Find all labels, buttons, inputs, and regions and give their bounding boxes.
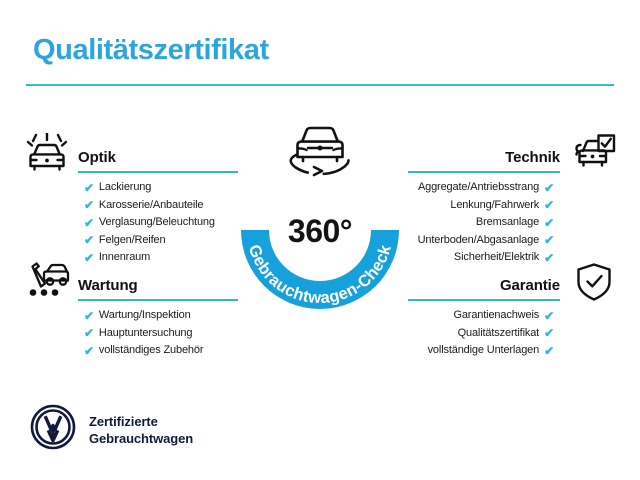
checklist-item-label: Innenraum	[99, 249, 150, 267]
check-icon: ✔	[84, 234, 94, 246]
checklist-item-label: Sicherheit/Elektrik	[454, 249, 539, 267]
section-technik-header: Technik	[408, 143, 560, 173]
footer-brand: Zertifizierte Gebrauchtwagen	[30, 404, 193, 455]
checklist-item-label: Lenkung/Fahrwerk	[450, 197, 539, 215]
checklist-item: ✔Garantienachweis	[408, 307, 554, 325]
section-garantie-header: Garantie	[408, 271, 560, 301]
section-wartung-title: Wartung	[78, 277, 138, 294]
checklist-item-label: Unterboden/Abgasanlage	[418, 232, 539, 250]
checklist-item: ✔Lackierung	[84, 179, 238, 197]
section-optik-title: Optik	[78, 149, 116, 166]
checklist-item: ✔Karosserie/Anbauteile	[84, 197, 238, 215]
section-technik-title: Technik	[505, 149, 560, 166]
footer-line-1: Zertifizierte	[89, 414, 158, 429]
badge-center-label: 360°	[229, 213, 411, 250]
checklist-item-label: Wartung/Inspektion	[99, 307, 191, 325]
checklist-item-label: Garantienachweis	[453, 307, 539, 325]
checklist-item-label: Karosserie/Anbauteile	[99, 197, 203, 215]
section-technik-divider	[408, 171, 560, 173]
checklist-item: ✔vollständiges Zubehör	[84, 342, 238, 360]
check-icon: ✔	[544, 217, 554, 229]
section-optik: Optik ✔Lackierung✔Karosserie/Anbauteile✔…	[78, 143, 238, 267]
section-optik-list: ✔Lackierung✔Karosserie/Anbauteile✔Vergla…	[78, 173, 238, 267]
section-garantie-list: ✔Garantienachweis✔Qualitätszertifikat✔vo…	[408, 301, 560, 360]
checklist-item-label: Verglasung/Beleuchtung	[99, 214, 215, 232]
checklist-item: ✔Bremsanlage	[408, 214, 554, 232]
check-icon: ✔	[84, 182, 94, 194]
footer-line-2: Gebrauchtwagen	[89, 431, 193, 446]
vw-logo	[30, 404, 76, 455]
car-checkbox-icon	[570, 133, 616, 178]
car-wash-icon	[24, 133, 70, 178]
check-icon: ✔	[84, 252, 94, 264]
section-wartung: Wartung ✔Wartung/Inspektion✔Hauptuntersu…	[78, 271, 238, 360]
checklist-item-label: Bremsanlage	[476, 214, 539, 232]
section-wartung-header: Wartung	[78, 271, 238, 301]
360-check-badge: Gebrauchtwagen-Check 360°	[229, 147, 411, 313]
page-title: Qualitätszertifikat	[33, 34, 269, 67]
section-wartung-list: ✔Wartung/Inspektion✔Hauptuntersuchung✔vo…	[78, 301, 238, 360]
checklist-item: ✔vollständige Unterlagen	[408, 342, 554, 360]
section-technik-list: ✔Aggregate/Antriebsstrang✔Lenkung/Fahrwe…	[408, 173, 560, 267]
checklist-item: ✔Qualitätszertifikat	[408, 325, 554, 343]
section-garantie-title: Garantie	[500, 277, 560, 294]
checklist-item-label: Felgen/Reifen	[99, 232, 166, 250]
check-icon: ✔	[84, 310, 94, 322]
check-icon: ✔	[84, 199, 94, 211]
check-icon: ✔	[84, 217, 94, 229]
checklist-item: ✔Verglasung/Beleuchtung	[84, 214, 238, 232]
title-divider	[26, 84, 614, 86]
section-technik: Technik ✔Aggregate/Antriebsstrang✔Lenkun…	[408, 143, 560, 267]
check-icon: ✔	[544, 199, 554, 211]
section-garantie: Garantie ✔Garantienachweis✔Qualitätszert…	[408, 271, 560, 360]
check-icon: ✔	[544, 327, 554, 339]
wrench-car-icon	[24, 261, 70, 306]
checklist-item: ✔Wartung/Inspektion	[84, 307, 238, 325]
checklist-item-label: Qualitätszertifikat	[458, 325, 540, 343]
checklist-item: ✔Unterboden/Abgasanlage	[408, 232, 554, 250]
check-icon: ✔	[544, 234, 554, 246]
check-icon: ✔	[544, 252, 554, 264]
checklist-item-label: Aggregate/Antriebsstrang	[418, 179, 539, 197]
checklist-item: ✔Sicherheit/Elektrik	[408, 249, 554, 267]
check-icon: ✔	[544, 310, 554, 322]
checklist-item-label: vollständige Unterlagen	[428, 342, 540, 360]
section-optik-header: Optik	[78, 143, 238, 173]
shield-check-icon	[574, 262, 614, 307]
checklist-item: ✔Felgen/Reifen	[84, 232, 238, 250]
checklist-item: ✔Aggregate/Antriebsstrang	[408, 179, 554, 197]
checklist-item: ✔Lenkung/Fahrwerk	[408, 197, 554, 215]
checklist-item-label: Lackierung	[99, 179, 151, 197]
checklist-item: ✔Hauptuntersuchung	[84, 325, 238, 343]
checklist-item-label: vollständiges Zubehör	[99, 342, 203, 360]
footer-brand-text: Zertifizierte Gebrauchtwagen	[89, 413, 193, 447]
check-icon: ✔	[544, 182, 554, 194]
checklist-item: ✔Innenraum	[84, 249, 238, 267]
check-icon: ✔	[544, 345, 554, 357]
section-optik-divider	[78, 171, 238, 173]
check-icon: ✔	[84, 327, 94, 339]
section-wartung-divider	[78, 299, 238, 301]
section-garantie-divider	[408, 299, 560, 301]
checklist-item-label: Hauptuntersuchung	[99, 325, 192, 343]
check-icon: ✔	[84, 345, 94, 357]
